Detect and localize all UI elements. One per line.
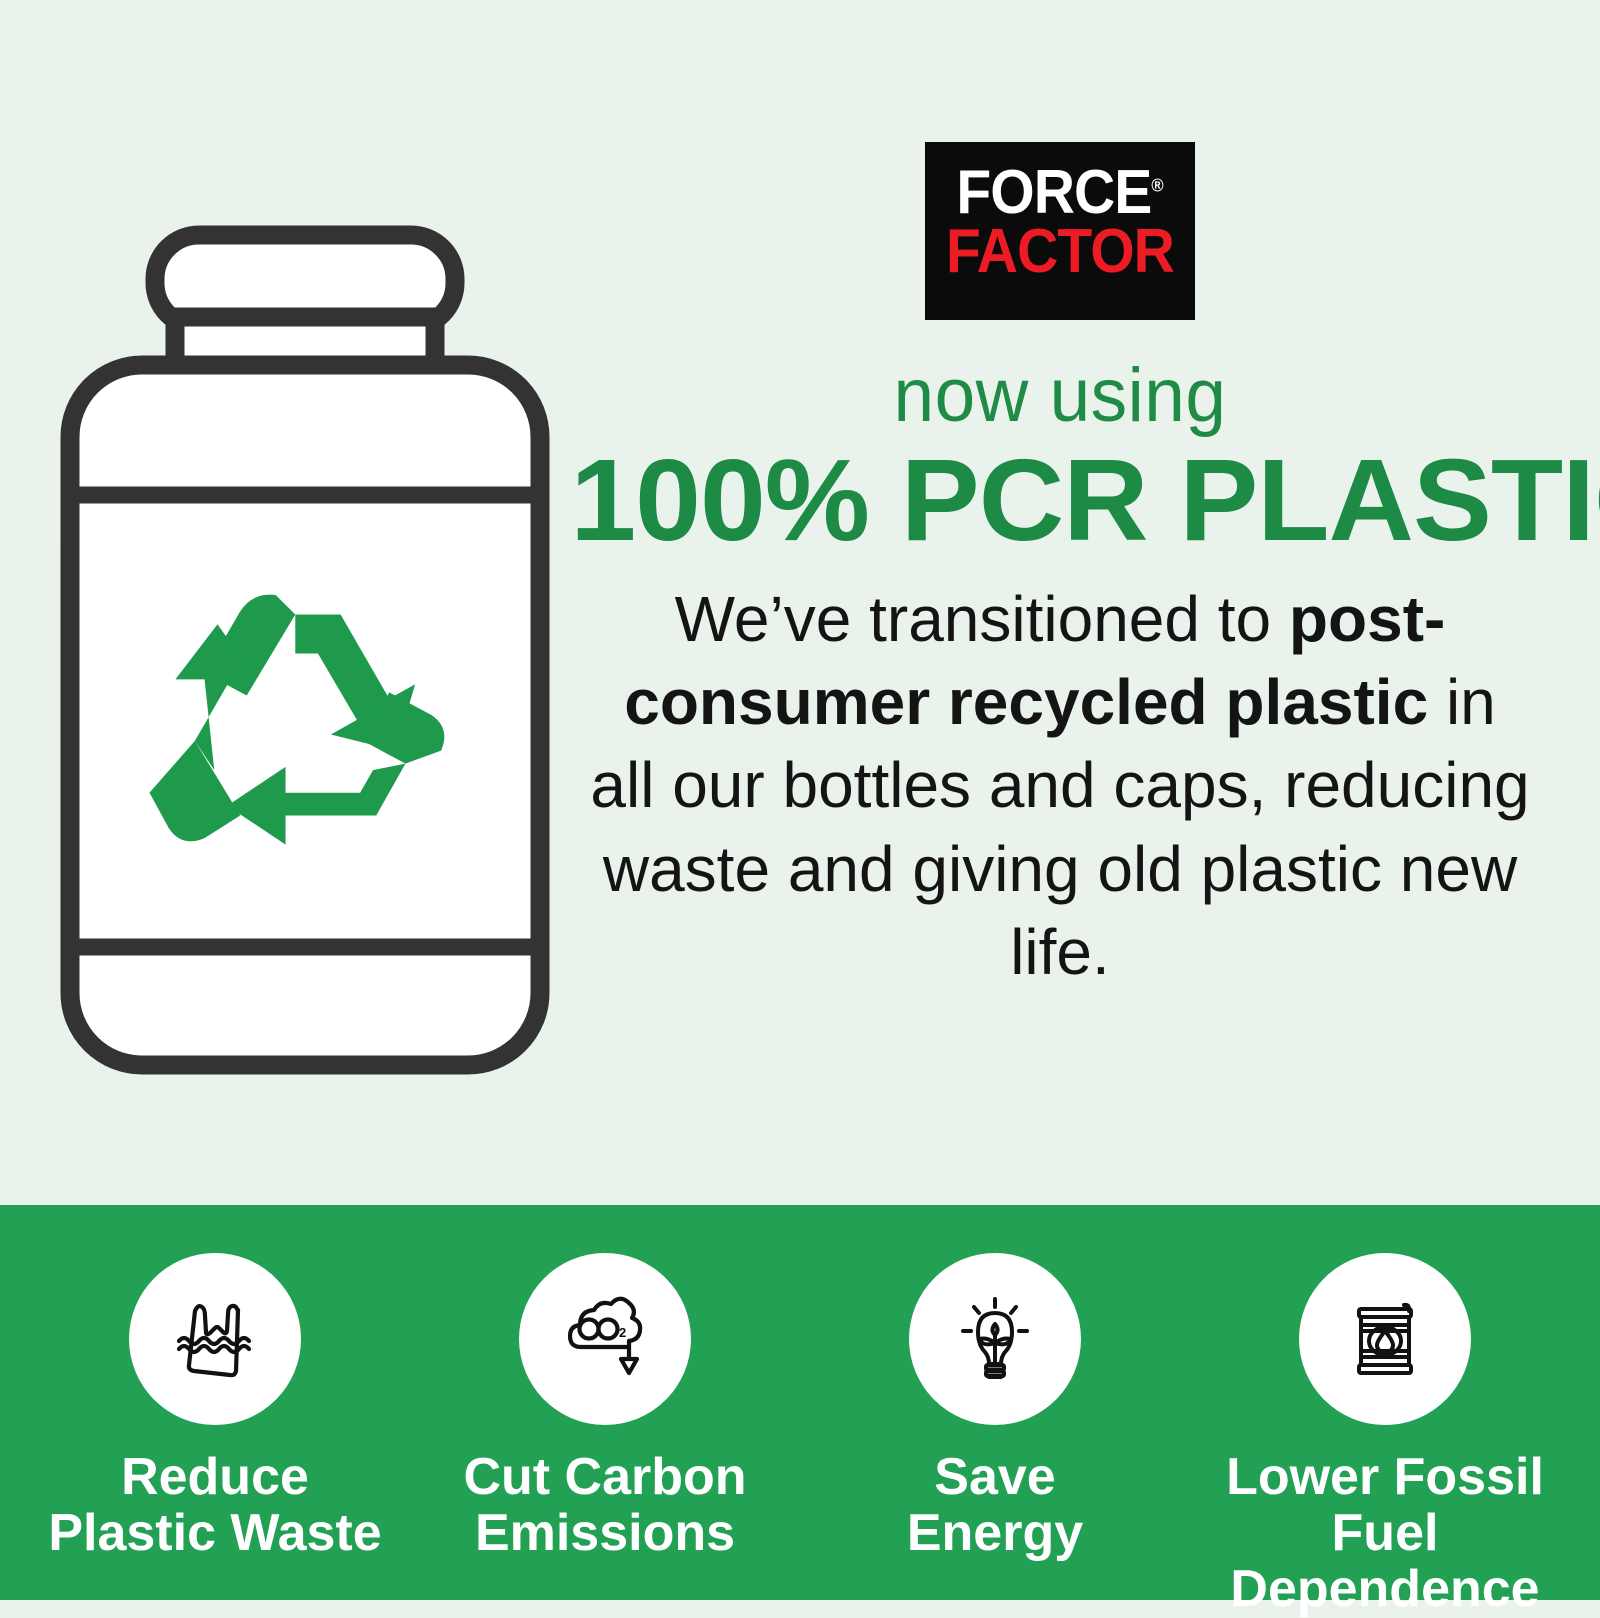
logo-factor-text: FACTOR <box>936 223 1184 282</box>
benefit-icon-circle <box>129 1253 301 1425</box>
svg-text:2: 2 <box>619 1325 626 1340</box>
benefit-label: Cut Carbon Emissions <box>463 1449 746 1561</box>
benefit-label: Save Energy <box>907 1449 1083 1561</box>
benefit-lower-fossil-fuel-dependence: Lower Fossil Fuel Dependence <box>1190 1205 1580 1617</box>
oil-barrel-droplet-icon <box>1331 1285 1439 1393</box>
benefit-icon-circle <box>909 1253 1081 1425</box>
benefit-cut-carbon-emissions: 2 Cut Carbon Emissions <box>410 1205 800 1561</box>
pcr-plastic-infographic: FORCE® FACTOR now using 100% PCR PLASTIC… <box>0 0 1600 1600</box>
benefit-save-energy: Save Energy <box>800 1205 1190 1561</box>
supplement-bottle-illustration <box>55 205 555 1085</box>
benefits-banner: Reduce Plastic Waste 2 <box>0 1205 1600 1600</box>
benefit-label: Lower Fossil Fuel Dependence <box>1190 1449 1580 1617</box>
plastic-bag-in-water-icon <box>161 1285 269 1393</box>
logo-force-text: FORCE® <box>936 164 1184 221</box>
registered-trademark-icon: ® <box>1151 175 1163 195</box>
benefit-label: Reduce Plastic Waste <box>48 1449 381 1561</box>
co2-cloud-down-arrow-icon: 2 <box>551 1285 659 1393</box>
headline-text: 100% PCR PLASTIC <box>570 442 1549 558</box>
hero-text-column: FORCE® FACTOR now using 100% PCR PLASTIC… <box>580 130 1540 1080</box>
benefit-icon-circle: 2 <box>519 1253 691 1425</box>
body-paragraph: We’ve transitioned to post-consumer recy… <box>580 578 1540 994</box>
benefit-icon-circle <box>1299 1253 1471 1425</box>
benefit-reduce-plastic-waste: Reduce Plastic Waste <box>20 1205 410 1561</box>
kicker-text: now using <box>599 358 1521 434</box>
hero-section: FORCE® FACTOR now using 100% PCR PLASTIC… <box>0 0 1600 1200</box>
body-part-1: We’ve transitioned to <box>675 583 1289 655</box>
lightbulb-sprout-icon <box>941 1285 1049 1393</box>
force-factor-logo: FORCE® FACTOR <box>925 142 1195 320</box>
